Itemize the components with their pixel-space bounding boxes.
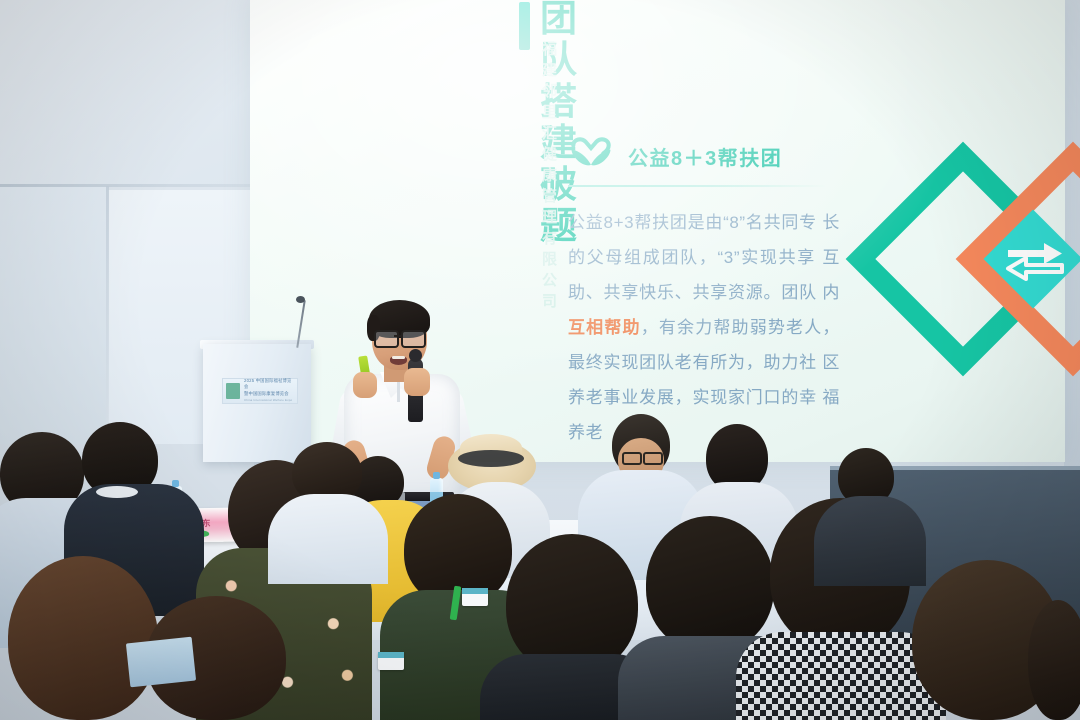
eyeglasses-bridge xyxy=(394,335,402,337)
title-accent-bar xyxy=(519,2,530,50)
head xyxy=(506,534,638,674)
speaker-placket xyxy=(397,382,400,402)
card-left-header: 公益8＋3帮扶团 xyxy=(568,134,840,178)
expo-logo xyxy=(226,383,240,399)
presentation-photo: 团队搭建破题 福建邻里汇健康管理有限公司 公益8＋3帮扶团 公益8+3帮扶团是由… xyxy=(0,0,1080,720)
card-left-line-1: 公益8+3帮扶团是由“8”名共同专 xyxy=(568,213,817,232)
head xyxy=(646,516,774,652)
badge-strip xyxy=(462,588,488,594)
wall-panel-upper-left xyxy=(0,0,250,186)
head xyxy=(1028,600,1080,720)
conference-badge xyxy=(378,652,404,670)
podium-sign-line-3: China International Welfare Expo xyxy=(244,398,292,402)
slide-subtitle: 福建邻里汇健康管理有限公司 xyxy=(542,38,560,311)
head xyxy=(8,556,158,720)
card-left-body: 公益8+3帮扶团是由“8”名共同专 长的父母组成团队，“3”实现共享 互助、共享… xyxy=(568,205,840,450)
conference-badge xyxy=(462,588,488,606)
speaker-left-hand xyxy=(353,372,377,398)
wall-seam-horizontal xyxy=(0,184,250,187)
interlocking-diamonds-logo xyxy=(840,166,1080,362)
podium-microphone-head xyxy=(296,296,305,303)
exchange-arrows-icon xyxy=(1004,239,1066,283)
hat-band xyxy=(458,450,524,467)
eyeglasses-icon xyxy=(622,452,642,465)
podium-sign-line-1: 2025 中国国际福祉博览会 xyxy=(244,378,292,390)
wall-seam-vertical xyxy=(106,186,109,444)
torso xyxy=(814,496,926,586)
card-left-title: 公益8＋3帮扶团 xyxy=(628,142,782,171)
eyeglasses-right-lens-icon xyxy=(401,330,426,348)
speaker-mouth xyxy=(390,356,407,365)
slide-card-left: 公益8＋3帮扶团 公益8+3帮扶团是由“8”名共同专 长的父母组成团队，“3”实… xyxy=(568,134,840,450)
speaker-right-hand xyxy=(404,368,430,396)
podium-sign: 2025 中国国际福祉博览会 暨中国国际康复博览会 China Internat… xyxy=(222,378,298,404)
card-left-line-5: 最终实现团队老有所为，助力社 xyxy=(568,353,817,372)
highlighted-phrase: 互相帮助 xyxy=(568,318,641,337)
wall-panel-lower-left xyxy=(0,186,108,444)
card-left-divider xyxy=(568,185,826,187)
torso xyxy=(268,494,388,584)
laptop xyxy=(126,637,196,688)
eyeglasses-left-lens-icon xyxy=(374,330,399,348)
eyeglasses-icon xyxy=(643,452,663,465)
podium-sign-line-2: 暨中国国际康复博览会 xyxy=(244,391,289,396)
badge-strip xyxy=(378,652,404,658)
heart-hands-icon xyxy=(568,137,614,175)
podium-sign-text: 2025 中国国际福祉博览会 暨中国国际康复博览会 China Internat… xyxy=(244,378,295,404)
shirt-collar xyxy=(96,486,138,498)
